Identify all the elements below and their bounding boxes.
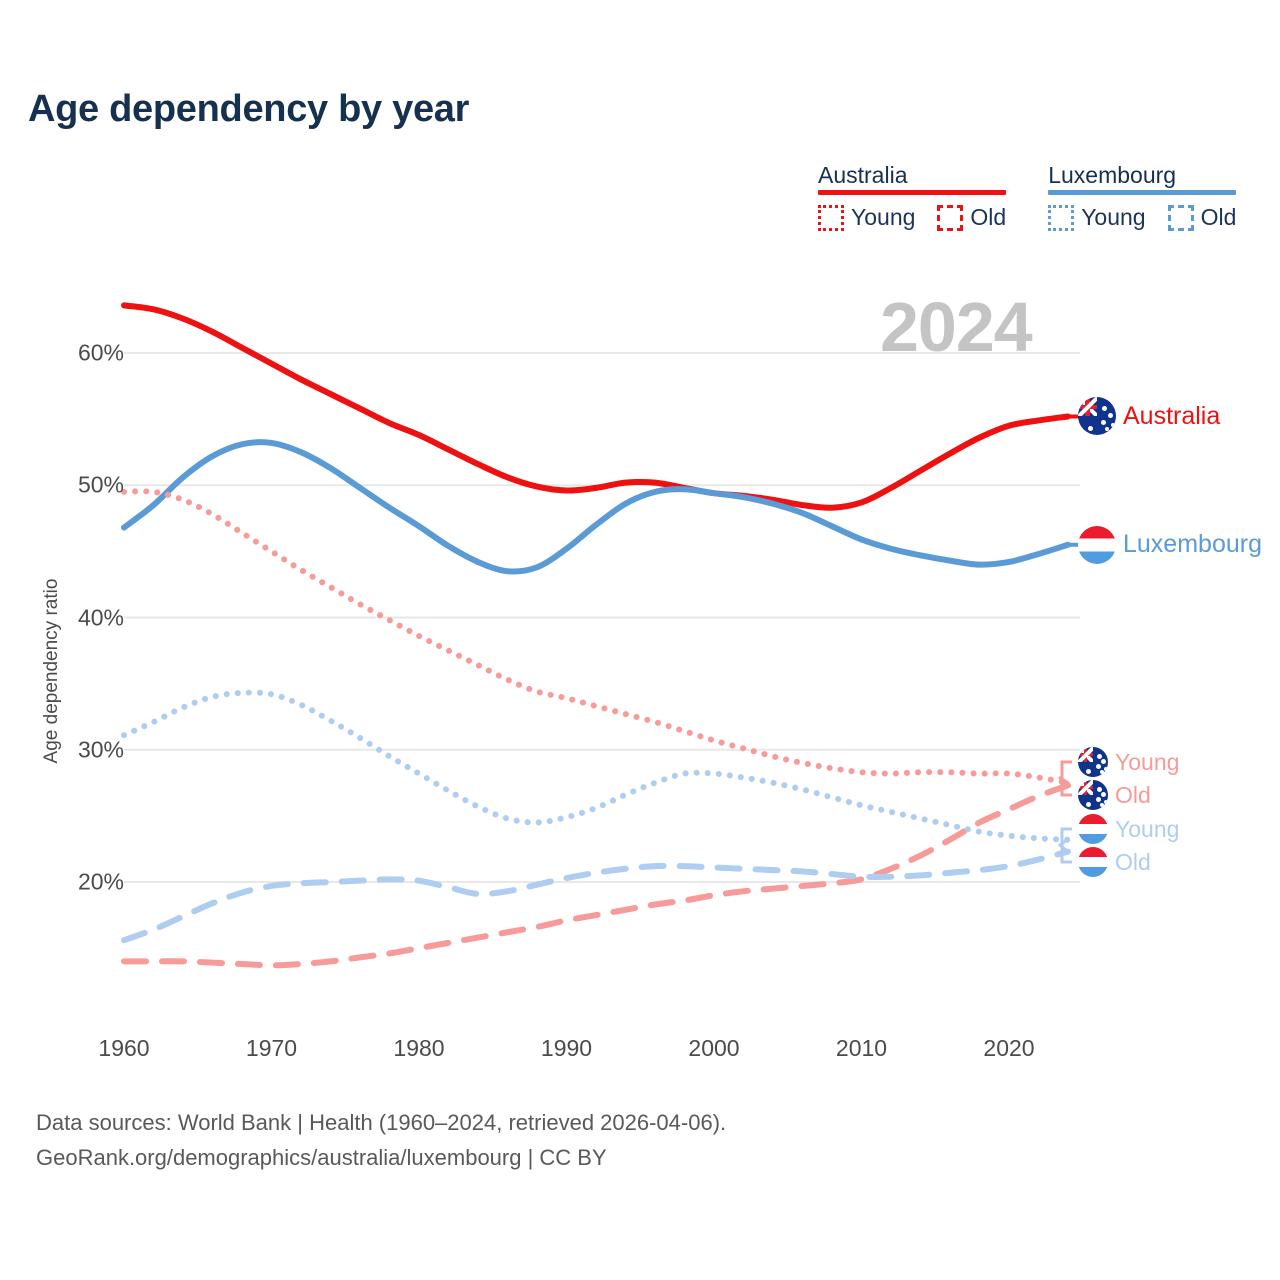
end-label-australia[interactable]: Australia xyxy=(1078,397,1220,435)
end-label-australia-old[interactable]: Old xyxy=(1078,780,1151,810)
y-tick-60%: 60% xyxy=(78,340,124,367)
x-tick-1960: 1960 xyxy=(98,1035,149,1062)
footer-line-sources: Data sources: World Bank | Health (1960–… xyxy=(36,1105,726,1140)
end-label-luxembourg-old[interactable]: Old xyxy=(1078,847,1151,877)
end-label-australia-young[interactable]: Young xyxy=(1078,747,1179,777)
end-label-australia-text: Australia xyxy=(1123,402,1220,431)
end-label-luxembourg-young[interactable]: Young xyxy=(1078,814,1179,844)
end-label-luxembourg-old-text: Old xyxy=(1115,849,1151,876)
luxembourg-flag-icon xyxy=(1078,847,1108,877)
x-tick-1980: 1980 xyxy=(393,1035,444,1062)
luxembourg-flag-icon xyxy=(1078,526,1116,564)
end-label-luxembourg-young-text: Young xyxy=(1115,816,1179,843)
end-label-australia-young-text: Young xyxy=(1115,749,1179,776)
australia-flag-icon xyxy=(1078,780,1108,810)
y-axis-title: Age dependency ratio xyxy=(41,561,63,781)
x-tick-1990: 1990 xyxy=(541,1035,592,1062)
chart-footer: Data sources: World Bank | Health (1960–… xyxy=(36,1105,726,1175)
australia-flag-icon xyxy=(1078,397,1116,435)
end-label-luxembourg-text: Luxembourg xyxy=(1123,530,1262,559)
end-label-australia-old-text: Old xyxy=(1115,782,1151,809)
australia-flag-icon xyxy=(1078,747,1108,777)
y-tick-20%: 20% xyxy=(78,869,124,896)
x-tick-2010: 2010 xyxy=(836,1035,887,1062)
x-tick-2020: 2020 xyxy=(983,1035,1034,1062)
line-chart-plot xyxy=(0,0,1280,1280)
end-label-luxembourg[interactable]: Luxembourg xyxy=(1078,526,1262,564)
luxembourg-flag-icon xyxy=(1078,814,1108,844)
y-tick-40%: 40% xyxy=(78,604,124,631)
x-tick-2000: 2000 xyxy=(688,1035,739,1062)
y-tick-30%: 30% xyxy=(78,736,124,763)
footer-line-attribution: GeoRank.org/demographics/australia/luxem… xyxy=(36,1140,726,1175)
x-tick-1970: 1970 xyxy=(246,1035,297,1062)
y-tick-50%: 50% xyxy=(78,472,124,499)
